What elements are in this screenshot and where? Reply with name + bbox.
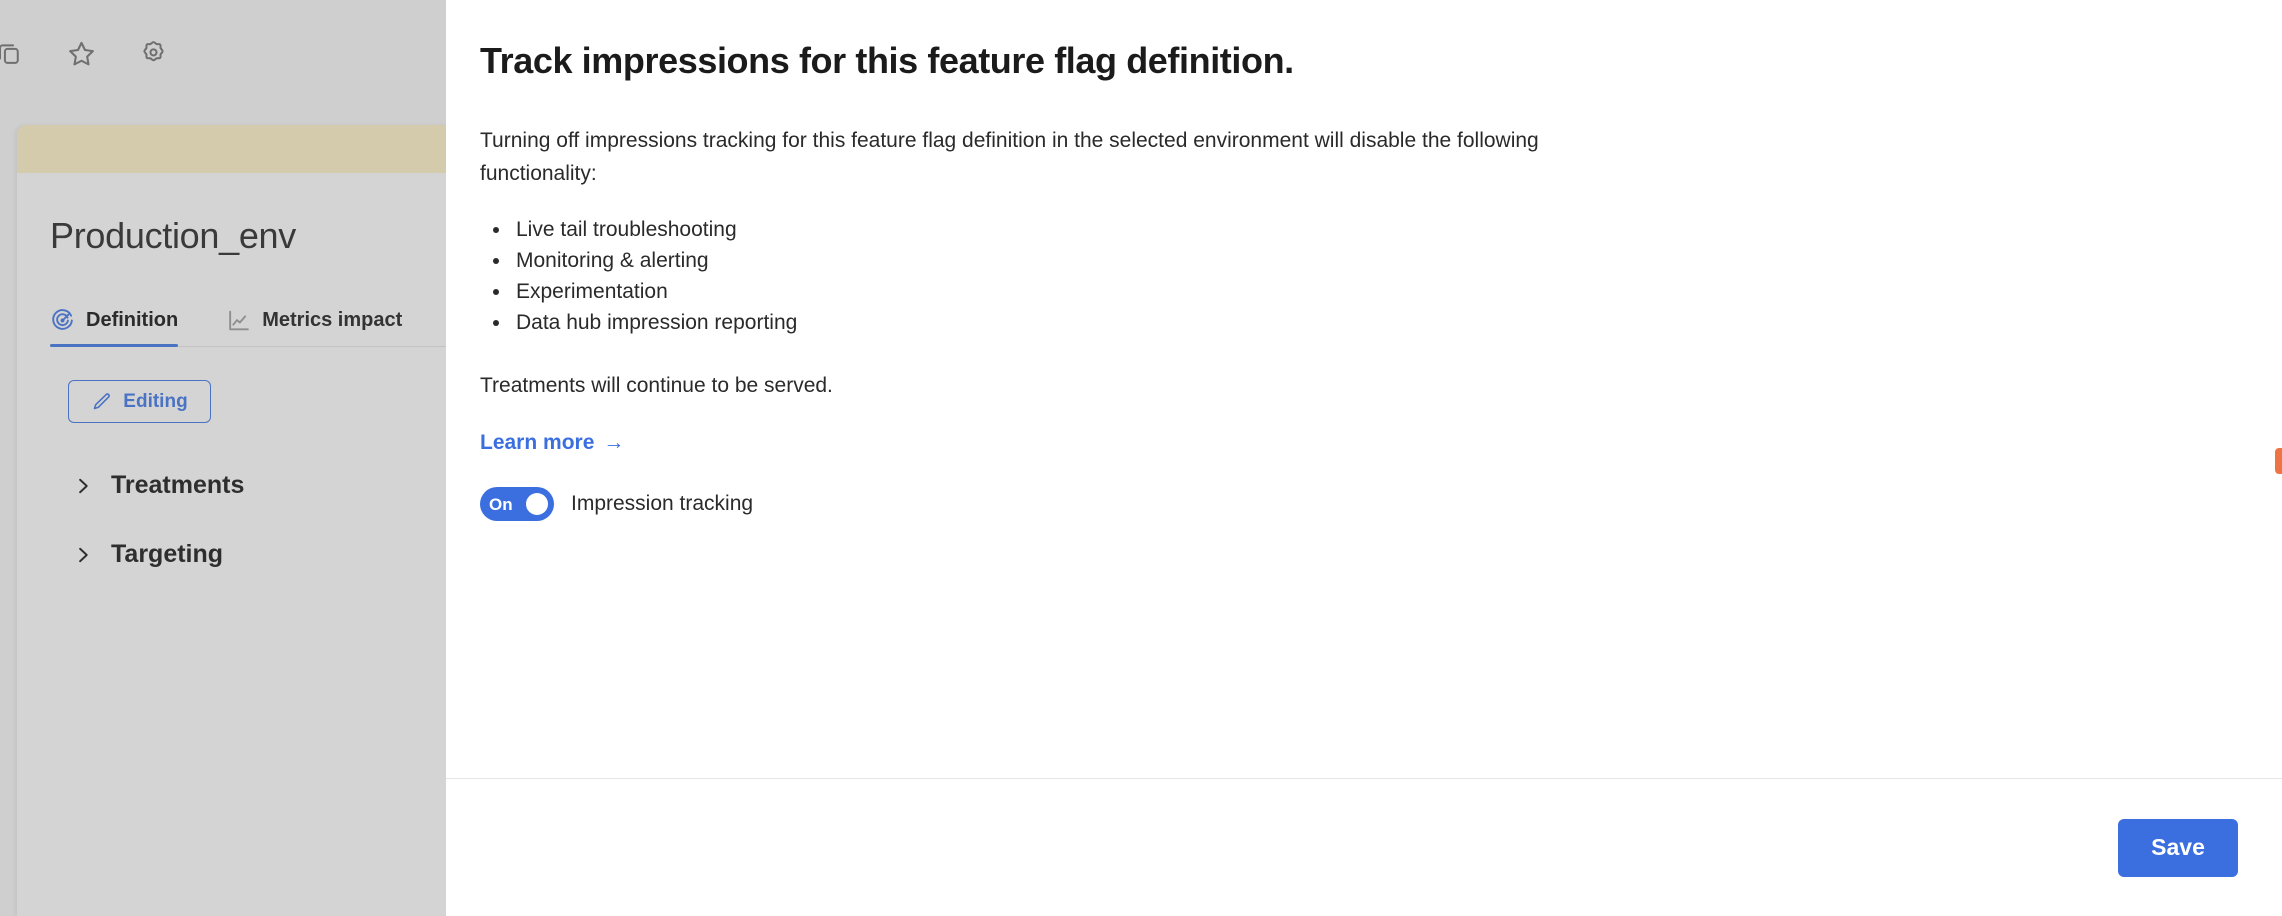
learn-more-label: Learn more <box>480 431 594 455</box>
tab-metrics-impact[interactable]: Metrics impact <box>226 308 402 346</box>
screen-root: Production_env Definition <box>0 0 2282 916</box>
target-icon <box>50 308 75 333</box>
impression-tracking-row: On Impression tracking <box>480 487 2282 521</box>
impressions-tracking-modal: Track impressions for this feature flag … <box>446 0 2282 916</box>
learn-more-link[interactable]: Learn more → <box>480 431 624 455</box>
gear-icon[interactable] <box>132 32 174 74</box>
environment-card: Production_env Definition <box>17 125 446 916</box>
modal-description: Turning off impressions tracking for thi… <box>480 125 1540 190</box>
section-targeting-label: Targeting <box>111 540 223 569</box>
disabled-functionality-list: Live tail troubleshooting Monitoring & a… <box>480 214 2282 338</box>
duplicate-icon[interactable] <box>0 32 30 74</box>
modal-title: Track impressions for this feature flag … <box>480 38 2282 83</box>
environment-title: Production_env <box>50 215 446 257</box>
environment-banner-strip <box>17 125 446 173</box>
tab-definition-label: Definition <box>86 309 178 332</box>
arrow-right-icon: → <box>603 431 624 455</box>
chevron-right-icon <box>73 545 93 565</box>
edge-feedback-tab[interactable] <box>2275 448 2282 474</box>
editing-button-label: Editing <box>123 391 187 413</box>
section-targeting[interactable]: Targeting <box>73 540 446 569</box>
line-chart-icon <box>226 308 251 333</box>
list-item: Monitoring & alerting <box>512 245 2282 276</box>
pencil-icon <box>91 391 112 412</box>
chevron-right-icon <box>73 476 93 496</box>
toggle-knob <box>526 493 548 515</box>
impression-tracking-toggle[interactable]: On <box>480 487 554 521</box>
environment-tabs: Definition Metrics impact <box>50 295 446 347</box>
background-app-dimmed: Production_env Definition <box>0 0 446 916</box>
list-item: Data hub impression reporting <box>512 307 2282 338</box>
list-item: Live tail troubleshooting <box>512 214 2282 245</box>
section-treatments[interactable]: Treatments <box>73 471 446 500</box>
toggle-state-label: On <box>489 496 513 513</box>
modal-footer: Save <box>446 778 2282 916</box>
modal-note: Treatments will continue to be served. <box>480 374 2282 398</box>
tab-metrics-impact-label: Metrics impact <box>262 309 402 332</box>
editing-button[interactable]: Editing <box>68 380 211 423</box>
section-treatments-label: Treatments <box>111 471 244 500</box>
star-icon[interactable] <box>60 32 102 74</box>
tab-definition[interactable]: Definition <box>50 308 178 346</box>
list-item: Experimentation <box>512 276 2282 307</box>
impression-tracking-label: Impression tracking <box>571 492 753 516</box>
modal-body: Track impressions for this feature flag … <box>446 0 2282 778</box>
save-button[interactable]: Save <box>2118 819 2238 877</box>
app-toolbar <box>0 32 174 74</box>
